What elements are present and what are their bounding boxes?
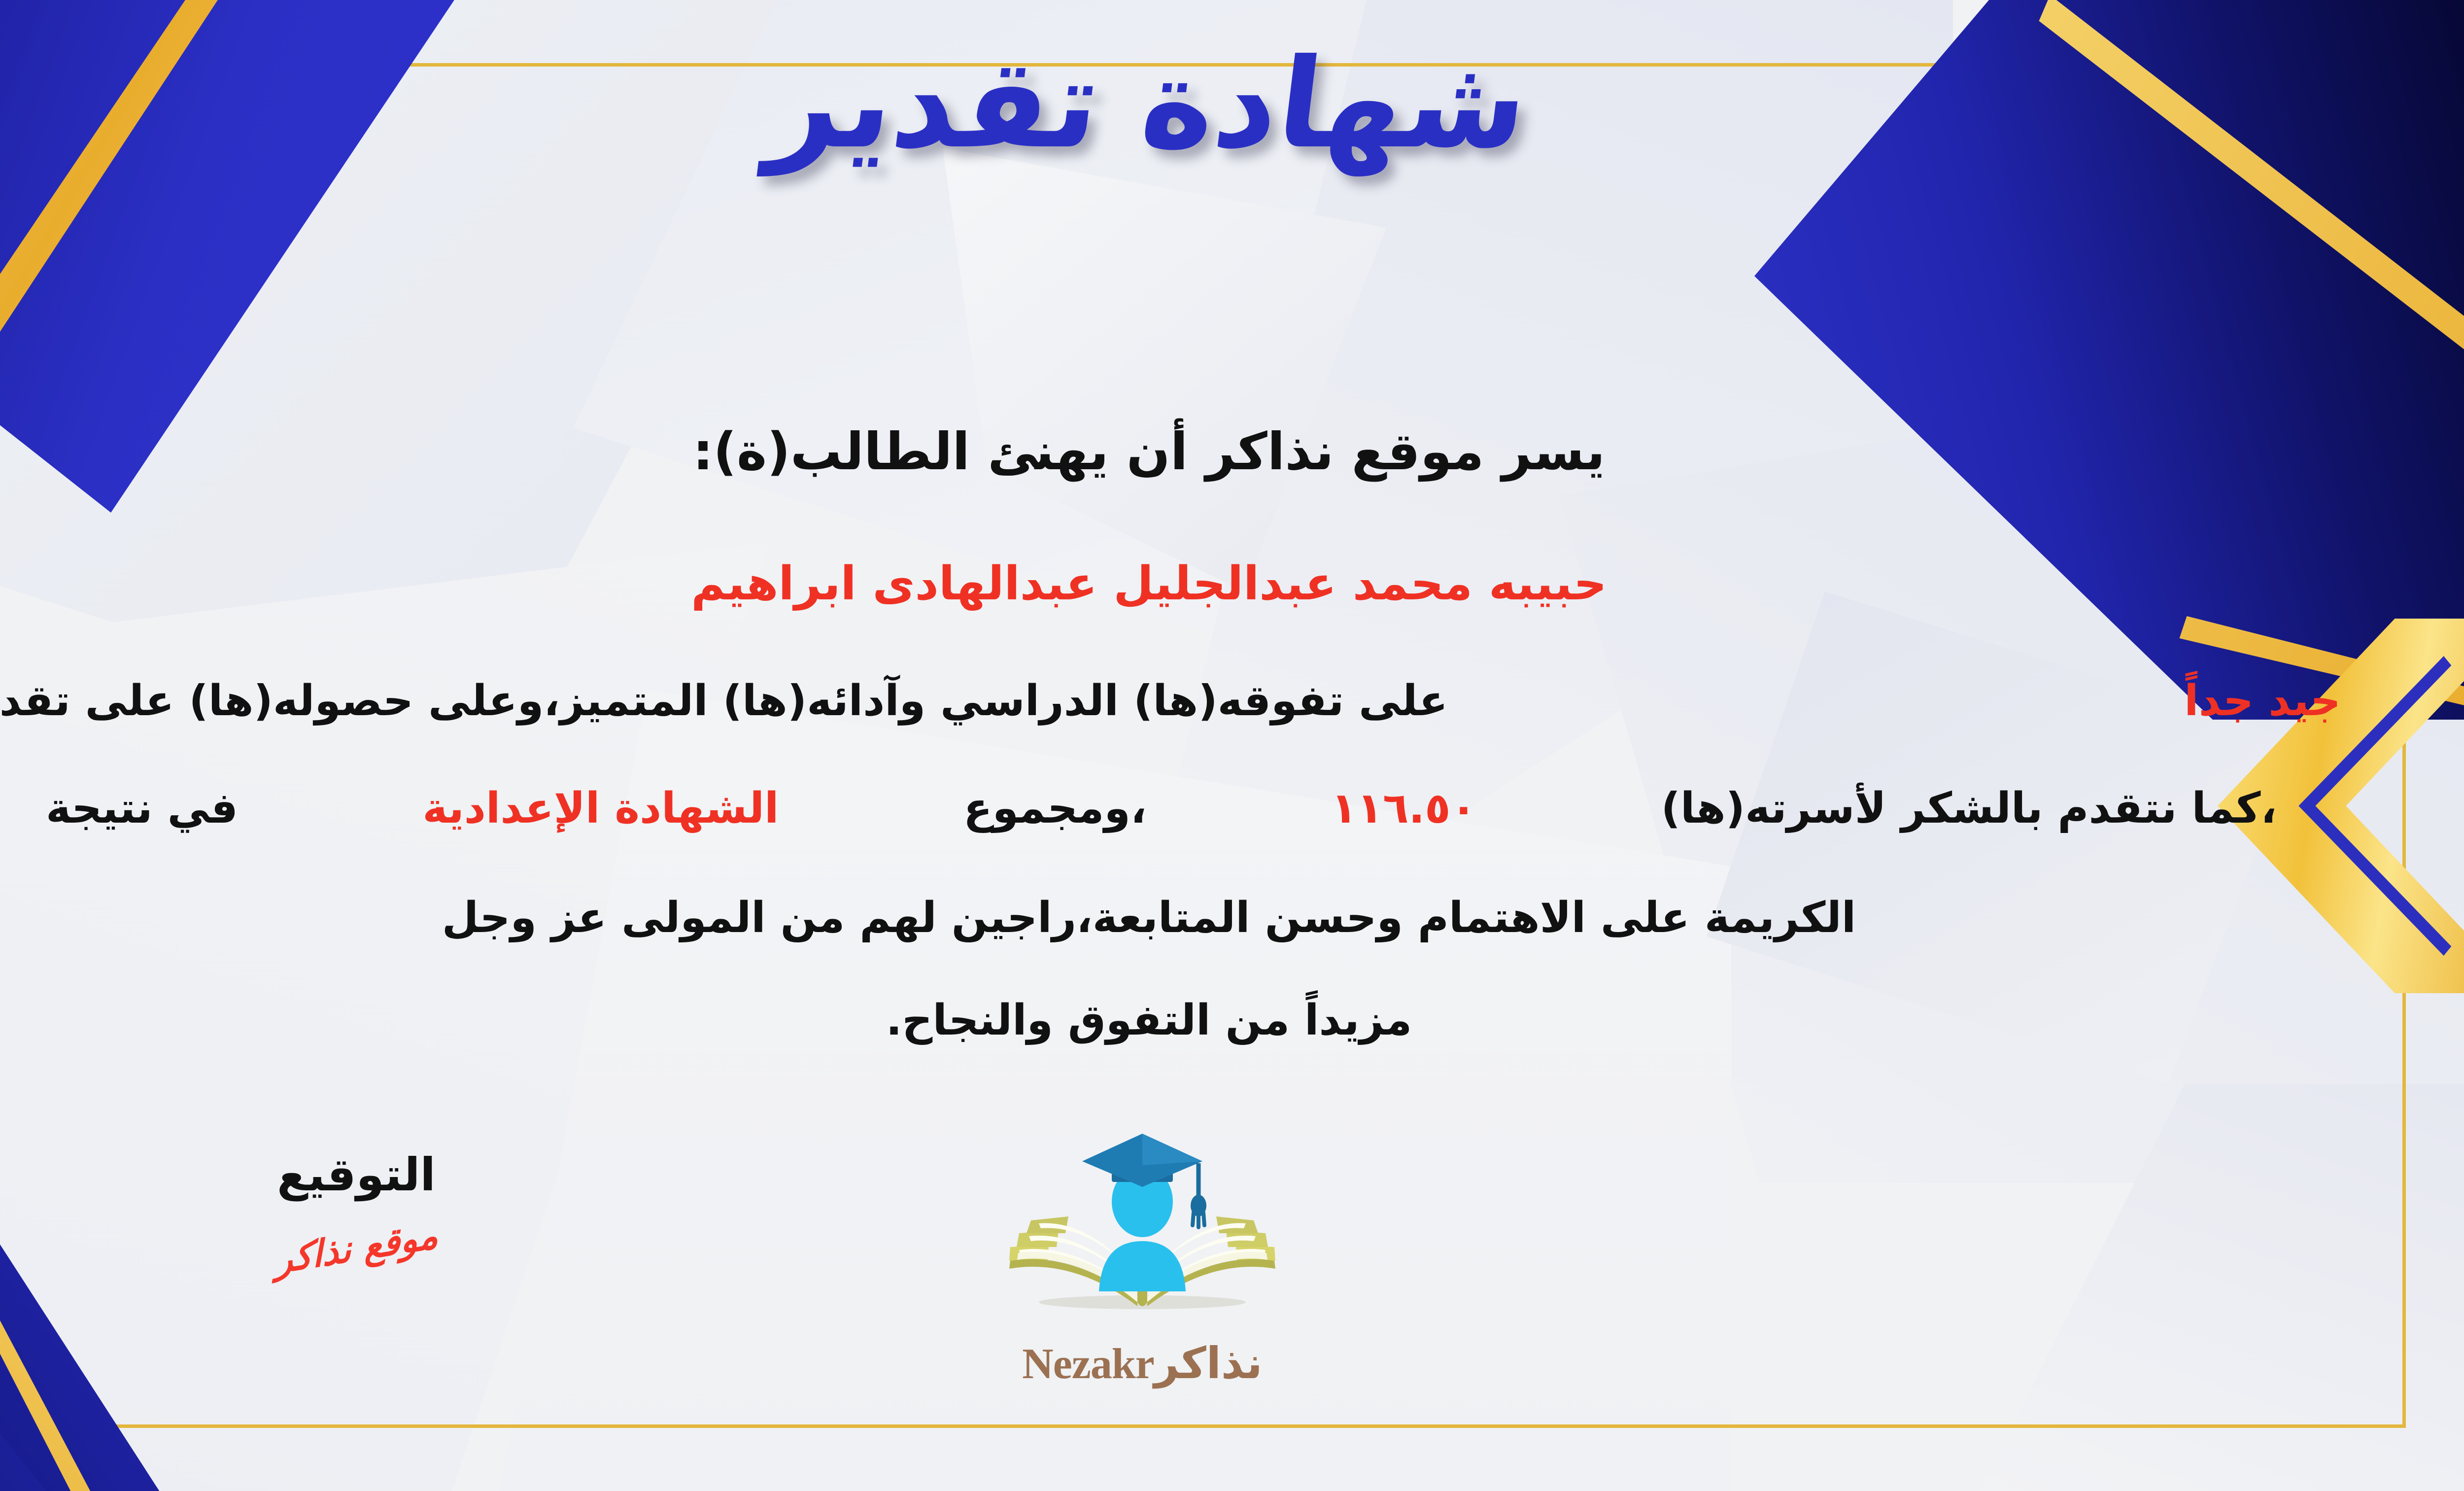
signature-block: التوقيع موقع نذاكر	[179, 1148, 534, 1269]
logo-wordmark: نذاكرNezakr	[945, 1338, 1339, 1389]
body-line-4: مزيداً من التفوق والنجاح.	[0, 996, 2464, 1045]
nezakr-logo: نذاكرNezakr	[945, 1129, 1339, 1405]
logo-arabic: نذاكر	[1154, 1338, 1263, 1388]
total-score: ١١٦.٥٠	[1331, 784, 1476, 833]
graduation-book-icon	[990, 1129, 1295, 1341]
body-line-3: الكريمة على الاهتمام وحسن المتابعة،راجين…	[0, 893, 2464, 942]
signature-mark: موقع نذاكر	[274, 1214, 439, 1283]
logo-latin: Nezakr	[1022, 1340, 1154, 1388]
body-line-1: على تفوقه(ها) الدراسي وآدائه(ها) المتميز…	[0, 676, 2341, 726]
exam-name: الشهادة الإعدادية	[422, 784, 779, 833]
body-line-1-text: على تفوقه(ها) الدراسي وآدائه(ها) المتميز…	[0, 676, 1448, 726]
body-line-2-prefix: في نتيجة	[46, 784, 238, 833]
certificate-canvas: شهادة تقدير يسر موقع نذاكر أن يهنئ الطال…	[0, 0, 2464, 1491]
body-line-2-mid: ،ومجموع	[963, 784, 1147, 833]
student-name: حبيبه محمد عبدالجليل عبدالهادى ابراهيم	[0, 557, 2464, 611]
certificate-title: شهادة تقدير	[0, 27, 2464, 181]
body-line-2: في نتيجة الشهادة الإعدادية ،ومجموع ١١٦.٥…	[46, 784, 2277, 833]
certificate-content: شهادة تقدير يسر موقع نذاكر أن يهنئ الطال…	[0, 0, 2464, 1491]
salutation-text: يسر موقع نذاكر أن يهنئ الطالب(ة):	[0, 421, 2464, 482]
body-line-2-suffix: ،كما نتقدم بالشكر لأسرته(ها)	[1661, 784, 2277, 833]
grade-value: جيد جداً	[2184, 676, 2341, 726]
signature-label: التوقيع	[179, 1148, 534, 1201]
